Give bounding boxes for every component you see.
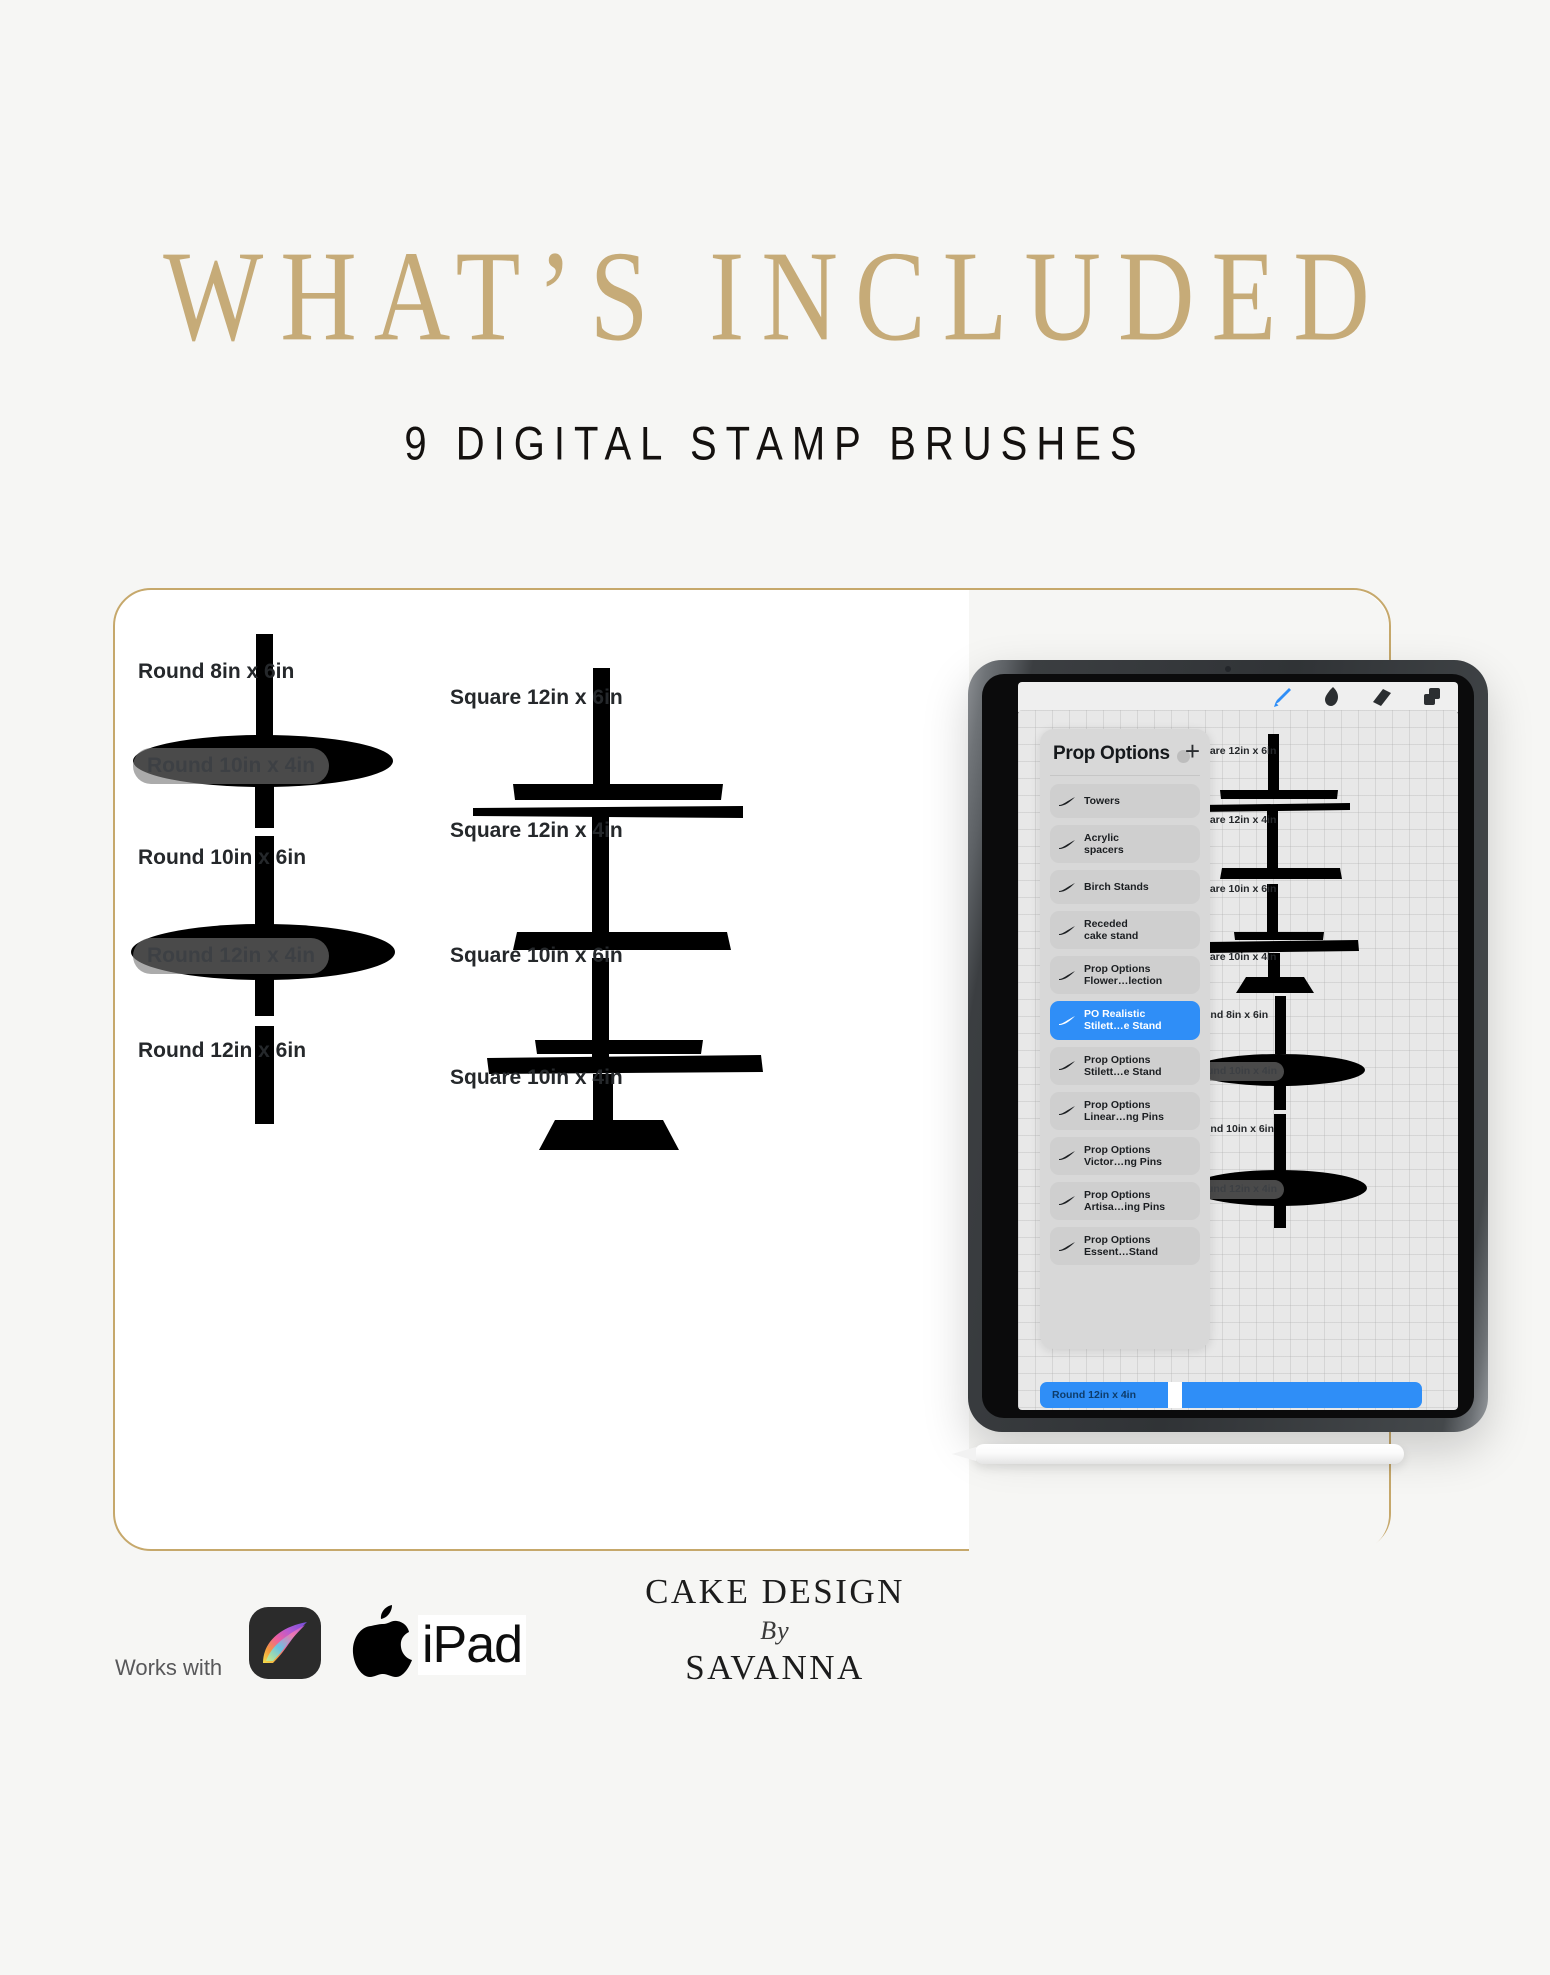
brush-item-1[interactable]: Acrylicspacers [1050,825,1200,863]
round-label-4: Round 12in x 6in [138,1033,306,1069]
add-brush-button[interactable]: + [1185,742,1200,760]
brush-stroke-icon [1058,1105,1076,1116]
brand-logo: CAKE DESIGN By SAVANNA [0,1572,1550,1688]
page-title: WHAT’S INCLUDED [0,232,1550,361]
brush-panel-header: Prop Options + [1040,729,1210,771]
brush-item-label: Prop OptionsVictor…ng Pins [1084,1144,1162,1168]
brush-stroke-icon [1058,1195,1076,1206]
brush-item-9[interactable]: Prop OptionsArtisa…ing Pins [1050,1182,1200,1220]
camera-icon [1225,666,1231,672]
pencil-tip-icon [952,1447,976,1461]
ipad-mockup: Square 12in x 6in Square 12in x 4in Squa… [968,660,1508,1460]
layers-tool-icon[interactable] [1420,685,1444,709]
brush-item-10[interactable]: Prop OptionsEssent…Stand [1050,1227,1200,1265]
brush-item-label: Birch Stands [1084,881,1149,893]
brush-stroke-icon [1058,970,1076,981]
brush-item-4[interactable]: Prop OptionsFlower…lection [1050,956,1200,994]
brush-item-label: PO RealisticStilett…e Stand [1084,1008,1162,1032]
poster-root: WHAT’S INCLUDED 9 DIGITAL STAMP BRUSHES [0,0,1550,1975]
round-label-3: Round 12in x 4in [133,938,329,974]
square-label-0: Square 12in x 6in [450,680,623,716]
brush-stroke-icon [1058,882,1076,893]
brush-stroke-icon [1058,796,1076,807]
panel-divider [1050,775,1200,776]
brush-item-2[interactable]: Birch Stands [1050,870,1200,904]
brush-item-6[interactable]: Prop OptionsStilett…e Stand [1050,1047,1200,1085]
brush-item-8[interactable]: Prop OptionsVictor…ng Pins [1050,1137,1200,1175]
brush-item-label: Prop OptionsLinear…ng Pins [1084,1099,1164,1123]
smudge-tool-icon[interactable] [1320,685,1344,709]
page-subtitle: 9 DIGITAL STAMP BRUSHES [0,418,1550,471]
brush-library-panel: Prop Options + TowersAcrylicspacersBirch… [1040,729,1210,1349]
brush-item-label: Prop OptionsArtisa…ing Pins [1084,1189,1165,1213]
round-label-1: Round 10in x 4in [133,748,329,784]
square-label-1: Square 12in x 4in [450,813,623,849]
ipad-screen: Square 12in x 6in Square 12in x 4in Squa… [982,674,1474,1418]
brush-stroke-icon [1058,1241,1076,1252]
round-label-0: Round 8in x 6in [138,654,294,690]
brush-item-3[interactable]: Recededcake stand [1050,911,1200,949]
brush-stroke-icon [1058,839,1076,850]
brush-item-7[interactable]: Prop OptionsLinear…ng Pins [1050,1092,1200,1130]
brand-line-2: By [0,1616,1550,1646]
round-label-2: Round 10in x 6in [138,840,306,876]
brush-item-label: Acrylicspacers [1084,832,1124,856]
brush-stroke-icon [1058,1150,1076,1161]
brush-item-label: Prop OptionsStilett…e Stand [1084,1054,1162,1078]
brand-line-1: CAKE DESIGN [0,1572,1550,1612]
brush-item-label: Prop OptionsEssent…Stand [1084,1234,1158,1258]
brush-item-label: Prop OptionsFlower…lection [1084,963,1162,987]
square-label-3: Square 10in x 4in [450,1060,623,1096]
chip-notch [1168,1382,1182,1408]
canvas-selected-chip[interactable]: Round 12in x 4in [1040,1382,1422,1408]
brand-line-3: SAVANNA [0,1648,1550,1688]
brush-tool-icon[interactable] [1270,685,1294,709]
eraser-tool-icon[interactable] [1370,685,1394,709]
procreate-toolbar [1018,682,1458,712]
brush-stroke-icon [1058,1060,1076,1071]
square-stand-diagram: Square 12in x 6in Square 12in x 4in Squa… [445,650,935,1150]
apple-pencil [974,1444,1404,1464]
brush-stroke-icon [1058,1015,1076,1026]
brush-item-0[interactable]: Towers [1050,784,1200,818]
brush-list: TowersAcrylicspacersBirch StandsRecededc… [1040,784,1210,1265]
brush-set-title: Prop Options [1053,743,1170,765]
brush-stroke-icon [1058,925,1076,936]
brush-item-label: Recededcake stand [1084,918,1138,942]
ipad-body: Square 12in x 6in Square 12in x 4in Squa… [968,660,1488,1432]
brush-item-label: Towers [1084,795,1120,807]
brush-item-5[interactable]: PO RealisticStilett…e Stand [1050,1001,1200,1039]
square-label-2: Square 10in x 6in [450,938,623,974]
